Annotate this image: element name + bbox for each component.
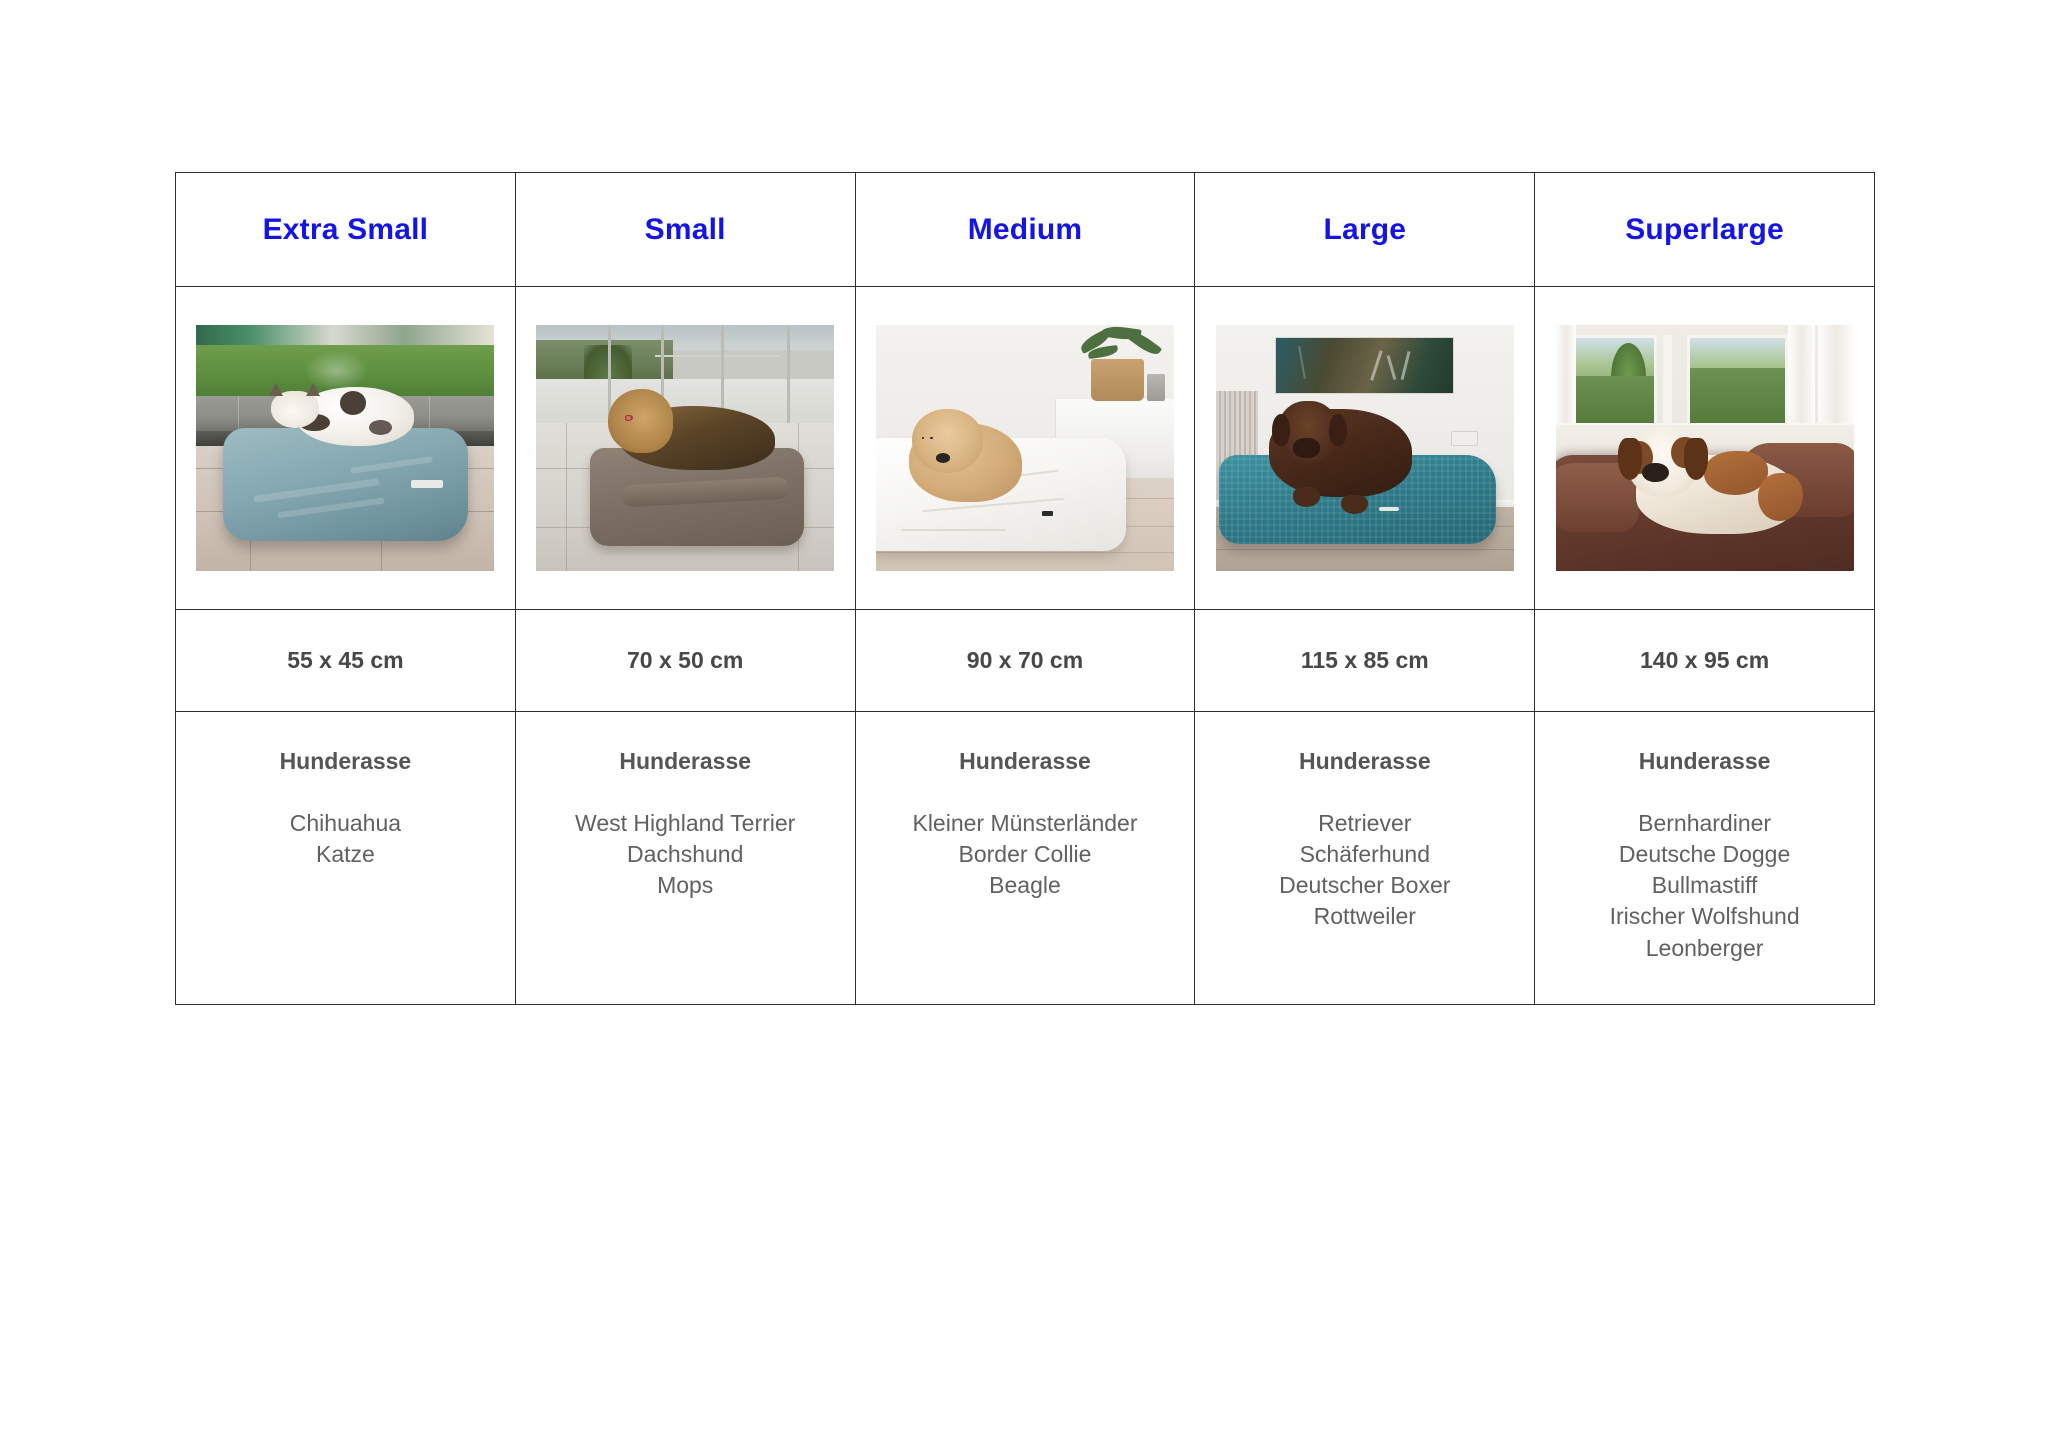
- breed-item: Kleiner Münsterländer: [856, 808, 1195, 839]
- table-dimensions-row: 55 x 45 cm 70 x 50 cm 90 x 70 cm 115 x 8…: [176, 610, 1875, 712]
- dimensions-superlarge: 140 x 95 cm: [1535, 647, 1874, 675]
- table-header-row: Extra Small Small Medium Large Superlarg…: [176, 173, 1875, 287]
- size-name-medium: Medium: [856, 213, 1195, 246]
- brand-tag: [411, 480, 443, 488]
- document-page: Extra Small Small Medium Large Superlarg…: [0, 0, 2048, 1448]
- breed-item: Irischer Wolfshund: [1535, 901, 1874, 932]
- photo-wrap-small: [516, 287, 855, 609]
- size-name-superlarge: Superlarge: [1535, 213, 1874, 246]
- breeds-cell-large: Hunderasse RetrieverSchäferhundDeutscher…: [1195, 712, 1535, 1005]
- breeds-list-large: RetrieverSchäferhundDeutscher BoxerRottw…: [1195, 808, 1534, 933]
- breed-item: Mops: [516, 870, 855, 901]
- photo-painting: [1275, 337, 1454, 394]
- breeds-cell-extra-small: Hunderasse ChihuahuaKatze: [176, 712, 516, 1005]
- brand-tag: [1379, 507, 1398, 511]
- dog-head: [912, 409, 984, 473]
- photo-socket: [1451, 431, 1478, 446]
- table-breeds-row: Hunderasse ChihuahuaKatze Hunderasse Wes…: [176, 712, 1875, 1005]
- header-cell-small: Small: [515, 173, 855, 287]
- breed-item: Leonberger: [1535, 933, 1874, 964]
- small-bed-photo: [536, 325, 834, 571]
- photo-cell-small: [515, 287, 855, 610]
- photo-cell-large: [1195, 287, 1535, 610]
- breeds-title-extra-small: Hunderasse: [176, 748, 515, 776]
- photo-wrap-medium: [856, 287, 1195, 609]
- breed-item: Border Collie: [856, 839, 1195, 870]
- brand-tag: [1042, 511, 1052, 517]
- dimensions-cell-superlarge: 140 x 95 cm: [1535, 610, 1875, 712]
- dimensions-large: 115 x 85 cm: [1195, 647, 1534, 675]
- breeds-list-small: West Highland TerrierDachshundMops: [516, 808, 855, 902]
- breed-item: West Highland Terrier: [516, 808, 855, 839]
- dog-snout: [1642, 463, 1669, 483]
- breed-item: Schäferhund: [1195, 839, 1534, 870]
- dog-nose: [936, 453, 951, 463]
- dog-snout: [1293, 438, 1320, 458]
- photo-wrap-large: [1195, 287, 1534, 609]
- dimensions-medium: 90 x 70 cm: [856, 647, 1195, 675]
- breed-item: Bullmastiff: [1535, 870, 1874, 901]
- breed-item: Beagle: [856, 870, 1195, 901]
- breed-item: Deutsche Dogge: [1535, 839, 1874, 870]
- breed-item: Bernhardiner: [1535, 808, 1874, 839]
- dog-bed-size-table: Extra Small Small Medium Large Superlarg…: [175, 172, 1875, 1005]
- breed-item: Chihuahua: [176, 808, 515, 839]
- breeds-title-superlarge: Hunderasse: [1535, 748, 1874, 776]
- bed-bolster: [622, 477, 790, 507]
- size-name-small: Small: [516, 213, 855, 246]
- breeds-cell-medium: Hunderasse Kleiner MünsterländerBorder C…: [855, 712, 1195, 1005]
- photo-cell-medium: [855, 287, 1195, 610]
- photo-window-left: [1573, 335, 1656, 428]
- photo-cell-extra-small: [176, 287, 516, 610]
- photo-wrap-superlarge: [1535, 287, 1874, 609]
- large-bed-photo: [1216, 325, 1514, 571]
- breeds-cell-small: Hunderasse West Highland TerrierDachshun…: [515, 712, 855, 1005]
- breeds-title-small: Hunderasse: [516, 748, 855, 776]
- breed-item: Deutscher Boxer: [1195, 870, 1534, 901]
- breeds-title-large: Hunderasse: [1195, 748, 1534, 776]
- photo-candle: [1147, 374, 1165, 401]
- header-cell-superlarge: Superlarge: [1535, 173, 1875, 287]
- dimensions-cell-small: 70 x 50 cm: [515, 610, 855, 712]
- photo-cell-superlarge: [1535, 287, 1875, 610]
- dimensions-small: 70 x 50 cm: [516, 647, 855, 675]
- size-name-extra-small: Extra Small: [176, 213, 515, 246]
- header-cell-extra-small: Extra Small: [176, 173, 516, 287]
- breeds-title-medium: Hunderasse: [856, 748, 1195, 776]
- table-photo-row: [176, 287, 1875, 610]
- dimensions-cell-medium: 90 x 70 cm: [855, 610, 1195, 712]
- breed-item: Rottweiler: [1195, 901, 1534, 932]
- photo-window-right: [1687, 335, 1788, 428]
- superlarge-bed-photo: [1556, 325, 1854, 571]
- size-name-large: Large: [1195, 213, 1534, 246]
- header-cell-medium: Medium: [855, 173, 1195, 287]
- dimensions-extra-small: 55 x 45 cm: [176, 647, 515, 675]
- breeds-list-extra-small: ChihuahuaKatze: [176, 808, 515, 871]
- breeds-list-superlarge: BernhardinerDeutsche DoggeBullmastiffIri…: [1535, 808, 1874, 964]
- medium-bed-photo: [876, 325, 1174, 571]
- photo-wrap-extra-small: [176, 287, 515, 609]
- dimensions-cell-extra-small: 55 x 45 cm: [176, 610, 516, 712]
- breed-item: Retriever: [1195, 808, 1534, 839]
- photo-rail: [655, 355, 780, 357]
- extra-small-bed-photo: [196, 325, 494, 571]
- dimensions-cell-large: 115 x 85 cm: [1195, 610, 1535, 712]
- photo-plant-pot: [1091, 359, 1145, 401]
- breed-item: Katze: [176, 839, 515, 870]
- breeds-cell-superlarge: Hunderasse BernhardinerDeutsche DoggeBul…: [1535, 712, 1875, 1005]
- breeds-list-medium: Kleiner MünsterländerBorder CollieBeagle: [856, 808, 1195, 902]
- dog-head: [608, 389, 674, 453]
- header-cell-large: Large: [1195, 173, 1535, 287]
- breed-item: Dachshund: [516, 839, 855, 870]
- cat-head: [271, 391, 319, 428]
